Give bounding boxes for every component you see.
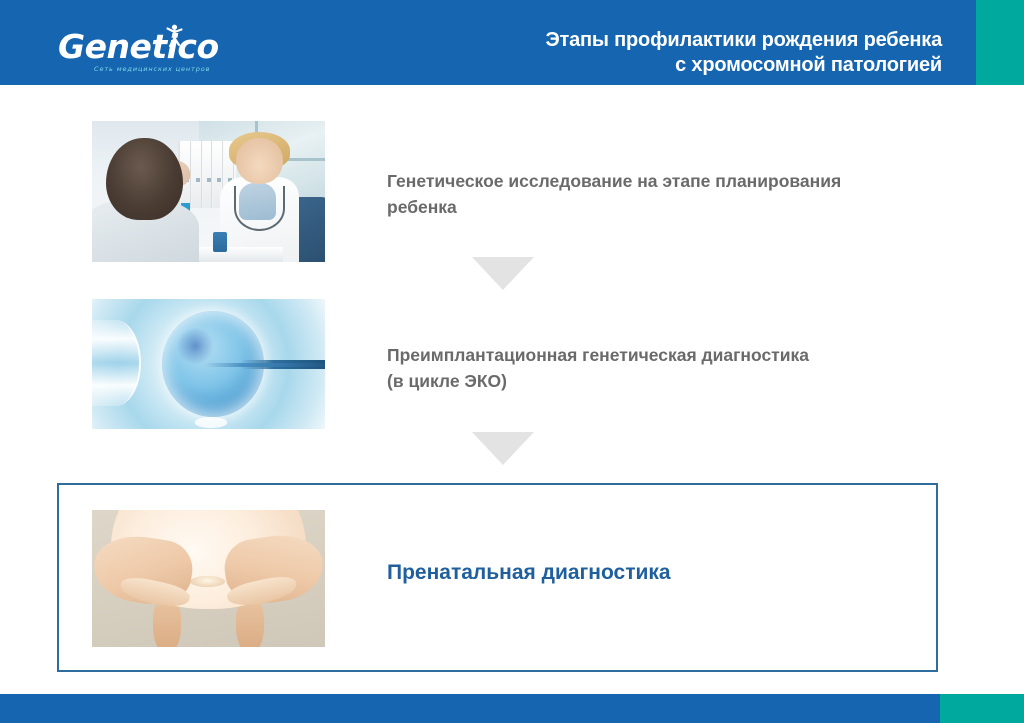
logo[interactable]: Genetico Сеть медицинских центров	[58, 30, 238, 80]
step-2-text-line2: (в цикле ЭКО)	[387, 368, 947, 394]
step-1-text-line2: ребенка	[387, 194, 947, 220]
slide: Этапы профилактики рождения ребенка с хр…	[0, 0, 1024, 723]
logo-wordmark: Genetico	[58, 30, 238, 64]
down-arrow-icon	[472, 257, 534, 290]
page-title-line1: Этапы профилактики рождения ребенка	[546, 29, 943, 51]
step-3-text-line1: Пренатальная диагностика	[387, 561, 671, 584]
step-1-text: Генетическое исследование на этапе плани…	[387, 168, 947, 220]
header-teal-accent	[976, 0, 1024, 85]
header-bar: Этапы профилактики рождения ребенка с хр…	[0, 0, 1024, 85]
logo-tagline: Сеть медицинских центров	[94, 65, 210, 73]
page-title-line2: с хромосомной патологией	[382, 53, 942, 78]
page-title: Этапы профилактики рождения ребенка с хр…	[382, 28, 942, 78]
footer-blue-band	[0, 694, 940, 723]
ivf-microinjection-photo	[92, 299, 325, 429]
step-2-text-line1: Преимплантационная генетическая диагност…	[387, 345, 809, 365]
person-figure-icon	[165, 24, 183, 48]
step-1-text-line1: Генетическое исследование на этапе плани…	[387, 171, 841, 191]
down-arrow-icon	[472, 432, 534, 465]
footer-teal-accent	[940, 694, 1024, 723]
step-2-text: Преимплантационная генетическая диагност…	[387, 342, 947, 394]
doctor-consultation-photo	[92, 121, 325, 262]
pregnant-belly-photo	[92, 510, 325, 647]
step-3-text: Пренатальная диагностика	[387, 560, 907, 586]
